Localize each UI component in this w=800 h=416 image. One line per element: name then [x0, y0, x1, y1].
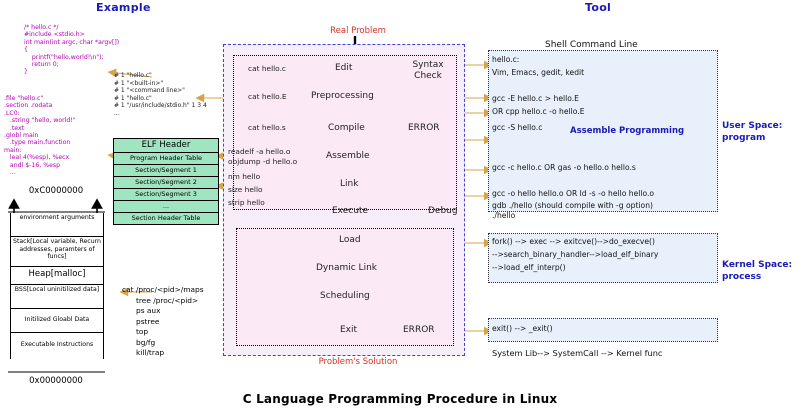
- inspect-command: readelf -a hello.o: [228, 147, 290, 156]
- elf-row: Section/Segment 1: [114, 165, 218, 177]
- flow-node-assemble: Assemble: [326, 151, 370, 161]
- inspect-command: strip hello: [228, 198, 265, 207]
- inspect-command: cat hello.c: [248, 64, 286, 73]
- memory-row: Executable Instructions: [11, 333, 103, 359]
- assemble-programming-note: Assemble Programming: [570, 126, 684, 136]
- tool-line: gcc -c hello.c OR gas -o hello.o hello.s: [492, 163, 636, 173]
- hello-s-assembly: .file "hello.c" .section .rodata .LC0: .…: [4, 95, 76, 176]
- flow-node-edit: Edit: [335, 63, 352, 73]
- flow-node-preprocessing: Preprocessing: [311, 91, 374, 101]
- kernel-line: -->search_binary_handler-->load_elf_bina…: [492, 250, 658, 260]
- exit-line: exit() --> _exit(): [492, 324, 553, 334]
- tool-line: OR cpp hello.c -o hello.E: [492, 107, 585, 117]
- memory-top-address: 0xC0000000: [10, 186, 102, 196]
- proc-command: ps aux: [122, 306, 204, 317]
- problem-solution-label: Problem's Solution: [288, 357, 428, 367]
- flow-node-scheduling: Scheduling: [320, 291, 370, 301]
- tool-line: gcc -o hello hello.o OR ld -s -o hello h…: [492, 189, 654, 199]
- flow-node-dynamic-link: Dynamic Link: [316, 263, 377, 273]
- real-problem-label: Real Problem: [288, 26, 428, 36]
- flow-node-execute: Execute: [332, 206, 368, 216]
- shell-command-line-header: Shell Command Line: [545, 40, 638, 50]
- elf-row: Section/Segment 2: [114, 177, 218, 189]
- kernel-line: -->load_elf_interp(): [492, 263, 566, 273]
- inspect-command: size hello: [228, 185, 263, 194]
- elf-row: Section Header Table: [114, 213, 218, 224]
- user-space-label: User Space: program: [722, 120, 782, 144]
- flow-node-exit: Exit: [340, 325, 357, 335]
- kernel-space-label: Kernel Space: process: [722, 259, 792, 283]
- elf-row: Program Header Table: [114, 153, 218, 165]
- tool-line: gdb ./hello (should compile with -g opti…: [492, 201, 653, 211]
- tool-line: ./hello: [492, 211, 515, 221]
- tool-line: gcc -S hello.c: [492, 123, 542, 133]
- syscall-line: System Lib--> SystemCall --> Kernel func: [492, 348, 662, 358]
- example-header: Example: [96, 1, 151, 14]
- tool-line: hello.c:: [492, 55, 519, 65]
- memory-row: Stack[Local variable, Recurn addresses, …: [11, 237, 103, 267]
- proc-command: pstree: [122, 317, 204, 328]
- flow-node-error-compile: ERROR: [408, 123, 440, 133]
- proc-command: tree /proc/<pid>: [122, 296, 204, 307]
- proc-command: kill/trap: [122, 348, 204, 359]
- proc-command: top: [122, 327, 204, 338]
- flow-node-compile: Compile: [328, 123, 365, 133]
- elf-row: ...: [114, 201, 218, 213]
- flow-node-debug: Debug: [428, 206, 458, 216]
- memory-row: environment arguments: [11, 213, 103, 237]
- inspect-command: cat hello.E: [248, 92, 287, 101]
- preprocessor-output: # 1 "hello.c" # 1 "<built-in>" # 1 "<com…: [114, 72, 207, 118]
- elf-row: Section/Segment 3: [114, 189, 218, 201]
- inspect-command: objdump -d hello.o: [228, 157, 297, 166]
- elf-layout-table: ELF Header Program Header Table Section/…: [113, 138, 219, 225]
- memory-row: BSS[Local uninitilized data]: [11, 285, 103, 309]
- proc-command: bg/fg: [122, 338, 204, 349]
- flow-node-load: Load: [339, 235, 361, 245]
- process-memory-map: environment arguments Stack[Local variab…: [10, 213, 104, 359]
- inspect-command: cat hello.s: [248, 123, 286, 132]
- page-title: C Language Programming Procedure in Linu…: [0, 392, 800, 406]
- tool-line: gcc -E hello.c > hello.E: [492, 94, 579, 104]
- flow-node-link: Link: [340, 179, 358, 189]
- proc-commands: cat /proc/<pid>/maps tree /proc/<pid> ps…: [122, 285, 204, 359]
- tool-line: Vim, Emacs, gedit, kedit: [492, 68, 584, 78]
- flow-node-syntax-check: Syntax Check: [404, 60, 452, 82]
- proc-command: cat /proc/<pid>/maps: [122, 285, 204, 296]
- elf-row: ELF Header: [114, 139, 218, 153]
- inspect-command: nm hello: [228, 172, 260, 181]
- flow-node-error-exit: ERROR: [403, 325, 435, 335]
- tool-header: Tool: [585, 1, 611, 14]
- memory-row: Initilized Gloabl Data: [11, 309, 103, 333]
- memory-bottom-address: 0x00000000: [10, 376, 102, 386]
- hello-c-source: /* hello.c */ #include <stdio.h> int mai…: [24, 24, 119, 76]
- kernel-line: fork() --> exec --> exitcve()-->do_execv…: [492, 237, 655, 247]
- memory-row: Heap[malloc]: [11, 267, 103, 285]
